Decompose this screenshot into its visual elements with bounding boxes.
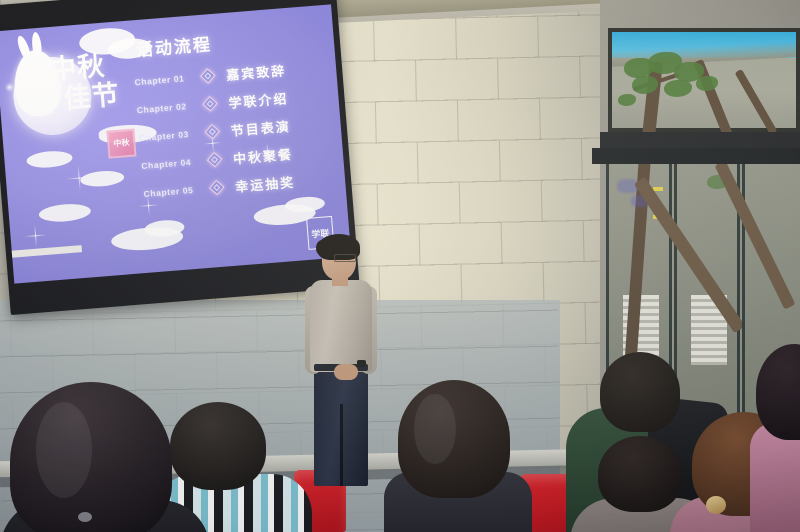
festival-logo: 中秋 佳节 中秋	[3, 34, 152, 165]
agenda-chapter: Chapter 04	[141, 156, 204, 171]
block-joint	[539, 99, 541, 140]
wristwatch-icon	[357, 360, 366, 367]
agenda-label: 嘉宾致辞	[218, 56, 333, 84]
agenda-label: 学联介绍	[220, 84, 335, 112]
block-joint	[377, 184, 379, 225]
agenda-label: 幸运抽奖	[227, 168, 342, 196]
diamond-icon	[200, 125, 223, 138]
hair-clip-icon	[78, 512, 92, 522]
block-joint	[417, 142, 419, 183]
agenda-label: 节目表演	[222, 112, 337, 140]
block-joint	[375, 102, 377, 143]
audience-head	[170, 402, 266, 490]
red-seal-stamp: 中秋	[106, 129, 136, 159]
cloud-motif	[284, 195, 325, 213]
block-joint	[584, 303, 586, 344]
tree-branch	[735, 69, 778, 135]
agenda-chapter: Chapter 03	[139, 128, 202, 143]
hair-highlight	[36, 402, 92, 498]
block-joint	[457, 101, 459, 142]
block-joint	[455, 18, 457, 59]
foliage	[664, 80, 692, 97]
presenter	[294, 236, 390, 486]
window-header-band	[592, 148, 800, 164]
agenda-chapter: Chapter 01	[134, 72, 197, 87]
slide-title: 活动流程	[135, 30, 213, 61]
sparkle	[65, 164, 93, 192]
hair-tie-icon	[706, 496, 726, 514]
sparkle	[24, 224, 48, 248]
hair-highlight	[414, 394, 456, 464]
block-joint	[581, 139, 583, 180]
diamond-icon	[198, 98, 221, 111]
block-joint	[537, 17, 539, 58]
agenda-chapter: Chapter 05	[143, 184, 206, 199]
block-joint	[583, 221, 585, 262]
diamond-icon	[203, 153, 226, 166]
agenda-chapter: Chapter 02	[136, 100, 199, 115]
logo-line-2: 佳节	[63, 78, 145, 114]
block-joint	[579, 57, 581, 98]
block-joint	[373, 20, 375, 61]
door-sticker	[653, 187, 663, 191]
upper-window	[608, 28, 800, 132]
diamond-icon	[196, 70, 219, 83]
trouser-seam	[340, 404, 343, 486]
block-joint	[499, 141, 501, 182]
block-joint	[497, 59, 499, 100]
block-joint	[541, 181, 543, 222]
photo-scene: 中秋 佳节 中秋 活动流程 Chapter 01 嘉宾致辞 Chapter 02…	[0, 0, 800, 532]
block-joint	[501, 223, 503, 264]
block-joint	[415, 60, 417, 101]
block-joint	[459, 183, 461, 224]
glasses-icon	[334, 254, 356, 262]
block-joint	[419, 225, 421, 266]
slide-highlight-bar	[8, 245, 82, 258]
foliage	[618, 94, 636, 106]
window-wall	[600, 0, 800, 400]
audience-head	[598, 436, 682, 512]
agenda-label: 中秋聚餐	[224, 140, 339, 168]
audience-head	[600, 352, 680, 432]
diamond-icon	[205, 181, 228, 194]
presenter-shirt	[310, 280, 372, 372]
cloud-motif	[38, 202, 91, 223]
presenter-hands	[334, 364, 358, 380]
